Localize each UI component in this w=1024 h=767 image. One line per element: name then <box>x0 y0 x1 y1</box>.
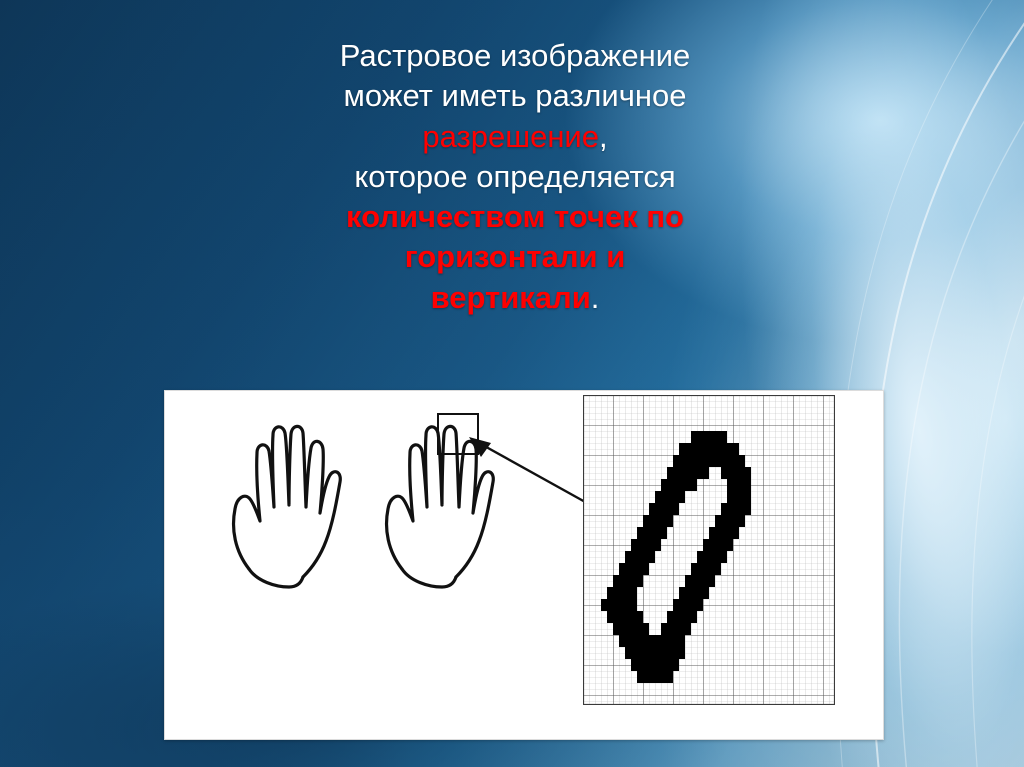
title-line-3: разрешение, <box>170 117 860 157</box>
illustration-panel <box>164 390 884 740</box>
slide: Растровое изображение может иметь различ… <box>0 0 1024 767</box>
title-line-5: количеством точек по <box>170 197 860 237</box>
title-line-7: вертикали. <box>170 278 860 318</box>
title-line-6: горизонтали и <box>170 237 860 277</box>
title-line-1: Растровое изображение <box>170 36 860 76</box>
zoom-arrow <box>465 431 595 511</box>
keyword-vertical: вертикали <box>431 280 591 315</box>
title-line-7-period: . <box>591 280 600 315</box>
title-line-2: может иметь различное <box>170 76 860 116</box>
title-line-3-comma: , <box>599 119 608 154</box>
title-line-4: которое определяется <box>170 157 860 197</box>
keyword-resolution: разрешение <box>422 119 599 154</box>
pixelated-finger-on-grid <box>583 395 835 705</box>
page-title: Растровое изображение может иметь различ… <box>170 36 860 318</box>
